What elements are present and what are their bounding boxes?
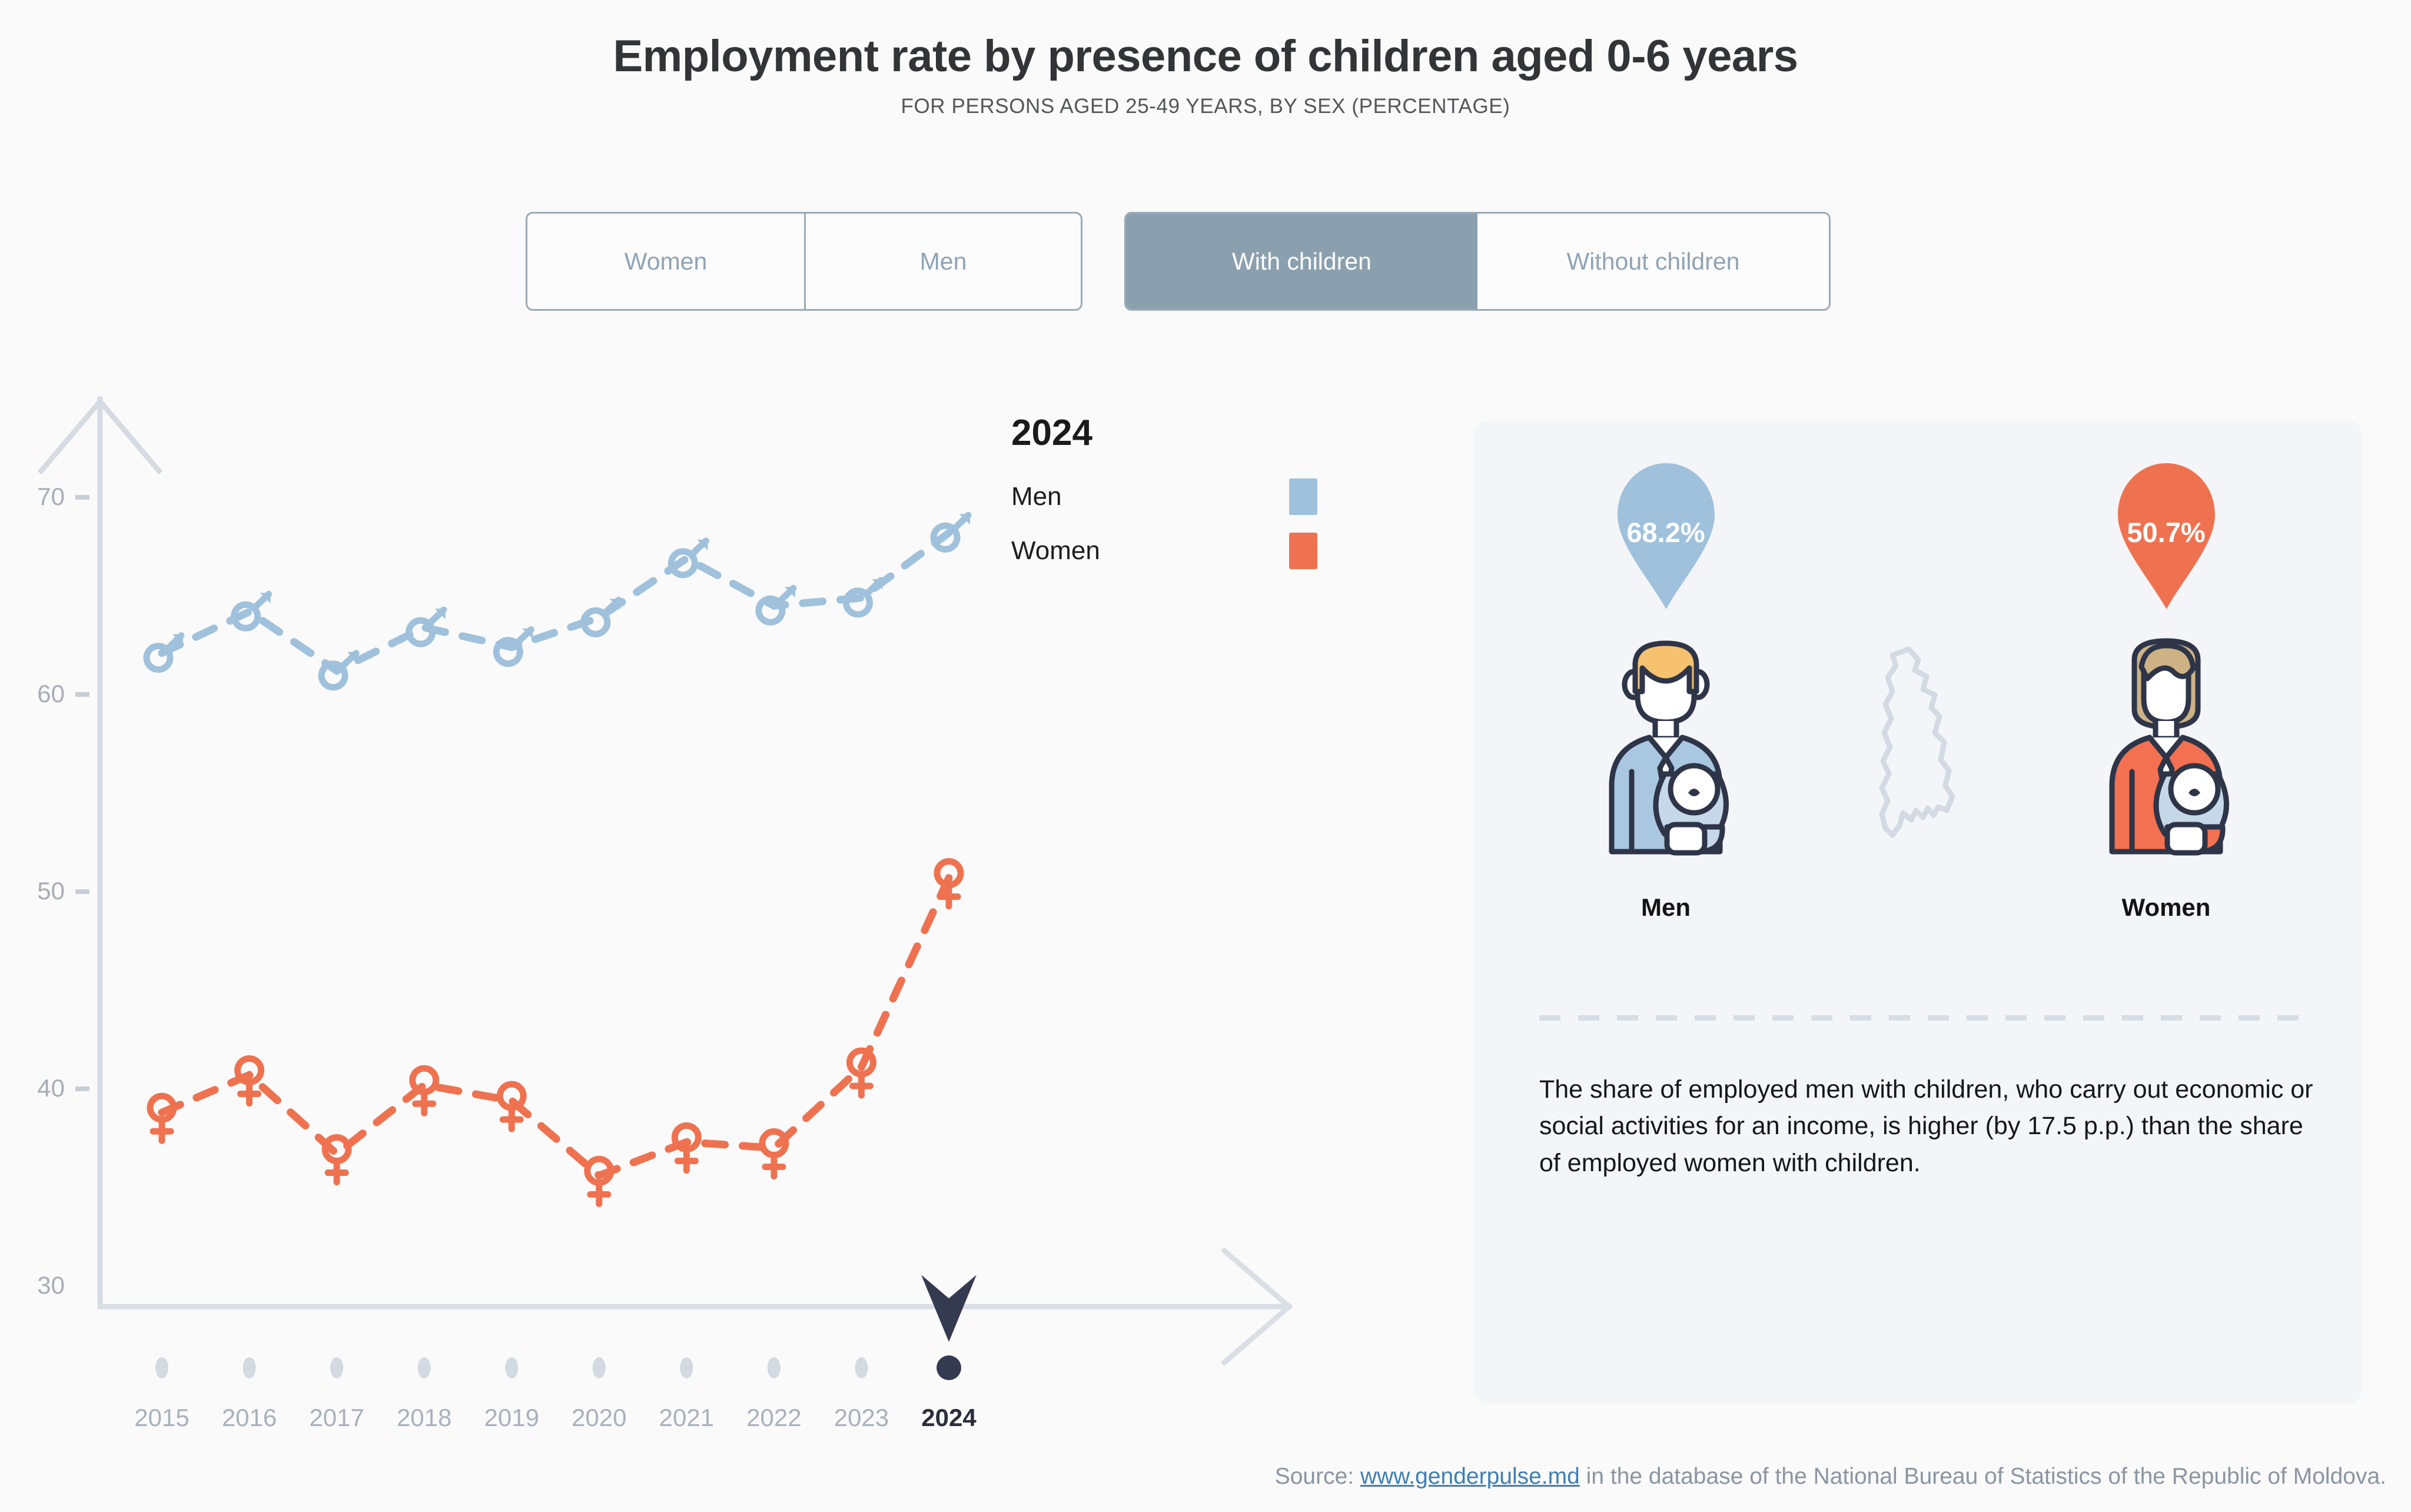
female-symbol-icon <box>500 1084 523 1129</box>
female-symbol-icon <box>325 1138 348 1182</box>
legend-label-women: Women <box>1011 536 1100 566</box>
source-link[interactable]: www.genderpulse.md <box>1360 1464 1580 1489</box>
map-pin-icon-men: 68.2% <box>1612 462 1721 610</box>
male-symbol-icon <box>846 579 882 614</box>
figure-men: Men <box>1569 633 1763 922</box>
pin-value-women: 50.7% <box>2112 516 2221 549</box>
figure-row: Men <box>1475 633 2362 892</box>
y-tick-60: 60 <box>0 680 65 708</box>
y-tick-30: 30 <box>0 1271 65 1300</box>
x-tick-2024: 2024 <box>896 1404 1002 1432</box>
y-axis <box>41 399 159 1307</box>
source-prefix: Source: <box>1275 1464 1360 1489</box>
female-symbol-icon <box>150 1096 174 1141</box>
panel-divider <box>1539 1015 2299 1021</box>
toggle-men[interactable]: Men <box>804 214 1081 309</box>
female-symbol-icon <box>587 1159 611 1204</box>
toggle-without-children[interactable]: Without children <box>1477 214 1829 309</box>
x-axis <box>100 1251 1289 1363</box>
male-symbol-icon <box>584 599 620 634</box>
source-line: Source: www.genderpulse.md in the databa… <box>1275 1464 2386 1490</box>
person-with-baby-icon-women <box>2078 633 2254 868</box>
chart-legend: 2024 Men Women <box>1011 412 1435 587</box>
toggle-bar: Women Men With children Without children <box>0 212 2411 324</box>
person-with-baby-icon-men <box>1578 633 1754 868</box>
female-symbol-icon <box>413 1068 436 1113</box>
female-symbol-icon <box>762 1132 786 1177</box>
male-symbol-icon <box>147 634 183 670</box>
pin-men: 68.2% <box>1569 462 1763 610</box>
legend-label-men: Men <box>1011 482 1062 511</box>
male-symbol-icon <box>496 629 533 664</box>
panel-note: The share of employed men with children,… <box>1539 1071 2316 1181</box>
toggle-women[interactable]: Women <box>527 214 804 309</box>
toggle-with-children[interactable]: With children <box>1126 214 1477 309</box>
female-symbol-icon <box>849 1051 873 1095</box>
series-women <box>150 862 961 1204</box>
map-pin-icon-women: 50.7% <box>2112 462 2221 610</box>
female-symbol-icon <box>238 1059 261 1104</box>
y-tick-40: 40 <box>0 1074 65 1102</box>
legend-swatch-men <box>1289 478 1317 515</box>
header: Employment rate by presence of children … <box>0 0 2411 118</box>
legend-row-women: Women <box>1011 533 1317 569</box>
page-subtitle: FOR PERSONS AGED 25-49 YEARS, BY SEX (PE… <box>0 95 2411 118</box>
y-tick-marks <box>75 497 89 1089</box>
legend-year: 2024 <box>1011 412 1435 454</box>
male-symbol-icon <box>321 652 358 687</box>
source-suffix: in the database of the National Bureau o… <box>1580 1464 2386 1489</box>
female-symbol-icon <box>937 862 961 906</box>
y-tick-70: 70 <box>0 483 65 511</box>
series-men <box>147 514 970 687</box>
pin-value-men: 68.2% <box>1612 516 1721 549</box>
children-toggle-group: With children Without children <box>1124 212 1831 311</box>
y-tick-50: 50 <box>0 877 65 905</box>
x-tick-dots <box>155 1357 955 1378</box>
legend-row-men: Men <box>1011 478 1317 515</box>
male-symbol-icon <box>934 514 970 549</box>
male-symbol-icon <box>759 587 795 622</box>
summary-panel: 68.2% 50.7% <box>1475 421 2362 1404</box>
figure-label-women: Women <box>2069 893 2263 922</box>
page-title: Employment rate by presence of children … <box>0 31 2411 82</box>
moldova-map-outline-icon <box>1845 639 2010 874</box>
figure-women: Women <box>2069 633 2263 922</box>
figure-label-men: Men <box>1569 893 1763 922</box>
highlight-chevron-icon <box>921 1275 977 1380</box>
legend-swatch-women <box>1289 533 1317 569</box>
sex-toggle-group: Women Men <box>526 212 1082 311</box>
female-symbol-icon <box>675 1125 698 1170</box>
male-symbol-icon <box>409 609 446 644</box>
pin-women: 50.7% <box>2069 462 2263 610</box>
